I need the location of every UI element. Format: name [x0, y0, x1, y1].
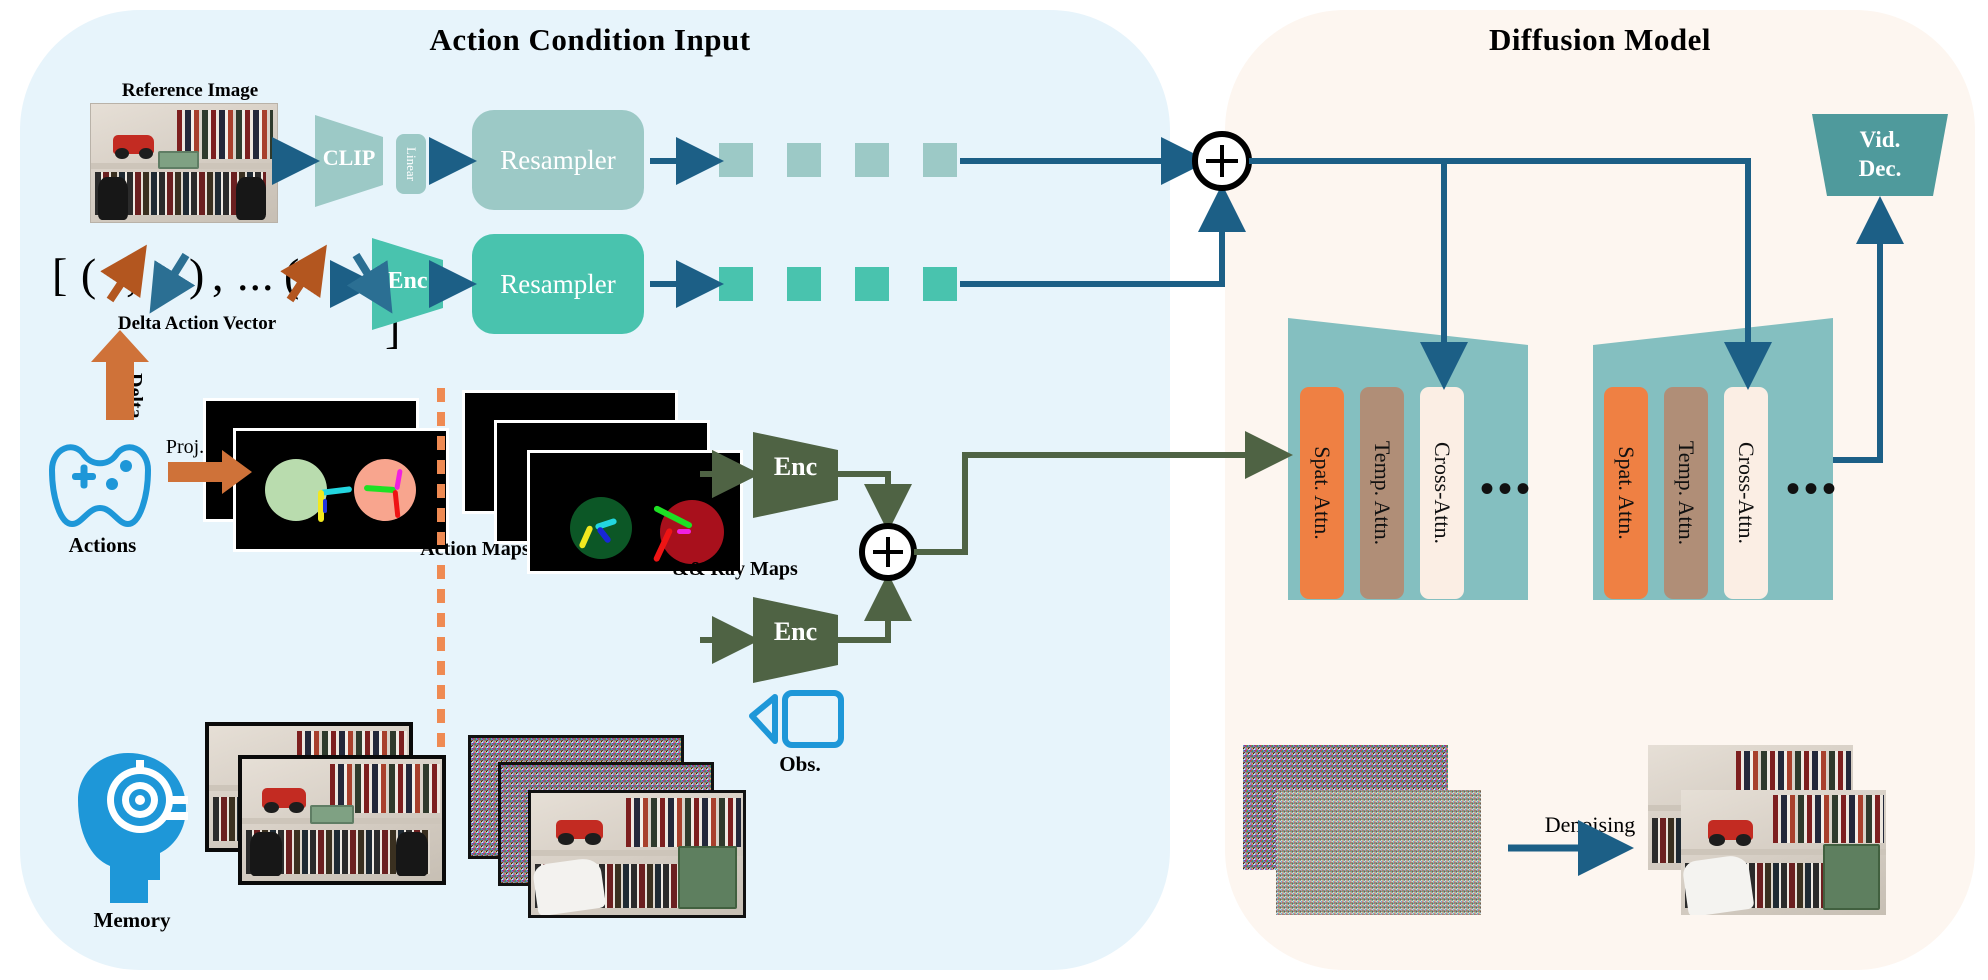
memory-frame-front [238, 755, 446, 885]
denoise-input-frame-front [1276, 790, 1481, 915]
green-book-held-clean [1823, 844, 1880, 911]
delta-arrow-label-wrap: Delta [112, 345, 172, 425]
spat-attn-bar-2: Spat. Attn. [1604, 387, 1648, 599]
ray-map-axis-magenta [677, 529, 691, 534]
action-map-frame-front [233, 428, 449, 552]
robot-arm [532, 857, 606, 917]
reference-image-label: Reference Image [100, 80, 280, 102]
action-token-1 [719, 267, 753, 301]
image-token-2 [787, 143, 821, 177]
vid-dec-line2: Dec. [1812, 155, 1948, 184]
spat-attn-label-1: Spat. Attn. [1309, 446, 1335, 540]
linear-label-wrap: Linear [396, 134, 426, 194]
enc-obs-label: Enc [753, 617, 838, 647]
linear-label: Linear [403, 147, 419, 181]
temp-attn-bar-1: Temp. Attn. [1360, 387, 1404, 599]
temp-attn-bar-2: Temp. Attn. [1664, 387, 1708, 599]
diffusion-model-title: Diffusion Model [1380, 22, 1820, 58]
block2-ellipsis: ••• [1786, 465, 1840, 512]
vid-dec-label: Vid. Dec. [1812, 126, 1948, 184]
resampler-action-label: Resampler [500, 269, 615, 300]
action-condition-input-title: Action Condition Input [330, 22, 850, 58]
temp-attn-label-2: Temp. Attn. [1673, 441, 1699, 545]
block1-ellipsis: ••• [1480, 465, 1534, 512]
ray-maps-label: && Ray Maps [645, 558, 825, 581]
image-token-3 [855, 143, 889, 177]
denoise-output-frame-front [1681, 790, 1886, 915]
enc-action-label: Enc [372, 268, 443, 295]
image-token-4 [923, 143, 957, 177]
obs-clean-frame-front [528, 790, 746, 918]
denoising-label: Denoising [1515, 812, 1665, 838]
spat-attn-bar-1: Spat. Attn. [1300, 387, 1344, 599]
enc-ray-label: Enc [753, 452, 838, 482]
resampler-image-block: Resampler [472, 110, 644, 210]
spat-attn-label-2: Spat. Attn. [1613, 446, 1639, 540]
vid-dec-line1: Vid. [1812, 126, 1948, 155]
actions-label: Actions [40, 533, 165, 558]
delta-action-vector-label: Delta Action Vector [52, 313, 342, 335]
action-token-3 [855, 267, 889, 301]
delta-action-vector-notation: [ ( , ) , ... ( , ) ] [52, 248, 352, 318]
clip-label: CLIP [315, 145, 383, 171]
robot-arm-clean [1682, 853, 1755, 915]
ray-map-frame-front [527, 450, 743, 574]
resampler-image-label: Resampler [500, 145, 615, 176]
action-map-axis-blue [323, 499, 327, 513]
memory-label: Memory [62, 908, 202, 933]
action-token-4 [923, 267, 957, 301]
action-token-2 [787, 267, 821, 301]
obs-label: Obs. [745, 752, 855, 777]
temp-attn-label-1: Temp. Attn. [1369, 441, 1395, 545]
cross-attn-bar-1: Cross-Attn. [1420, 387, 1464, 599]
resampler-action-block: Resampler [472, 234, 644, 334]
cross-attn-bar-2: Cross-Attn. [1724, 387, 1768, 599]
cross-attn-label-2: Cross-Attn. [1733, 442, 1759, 544]
reference-image [90, 103, 278, 223]
image-token-1 [719, 143, 753, 177]
delta-arrow-label: Delta [123, 373, 146, 419]
cross-attn-label-1: Cross-Attn. [1429, 442, 1455, 544]
green-book-held [678, 846, 737, 909]
